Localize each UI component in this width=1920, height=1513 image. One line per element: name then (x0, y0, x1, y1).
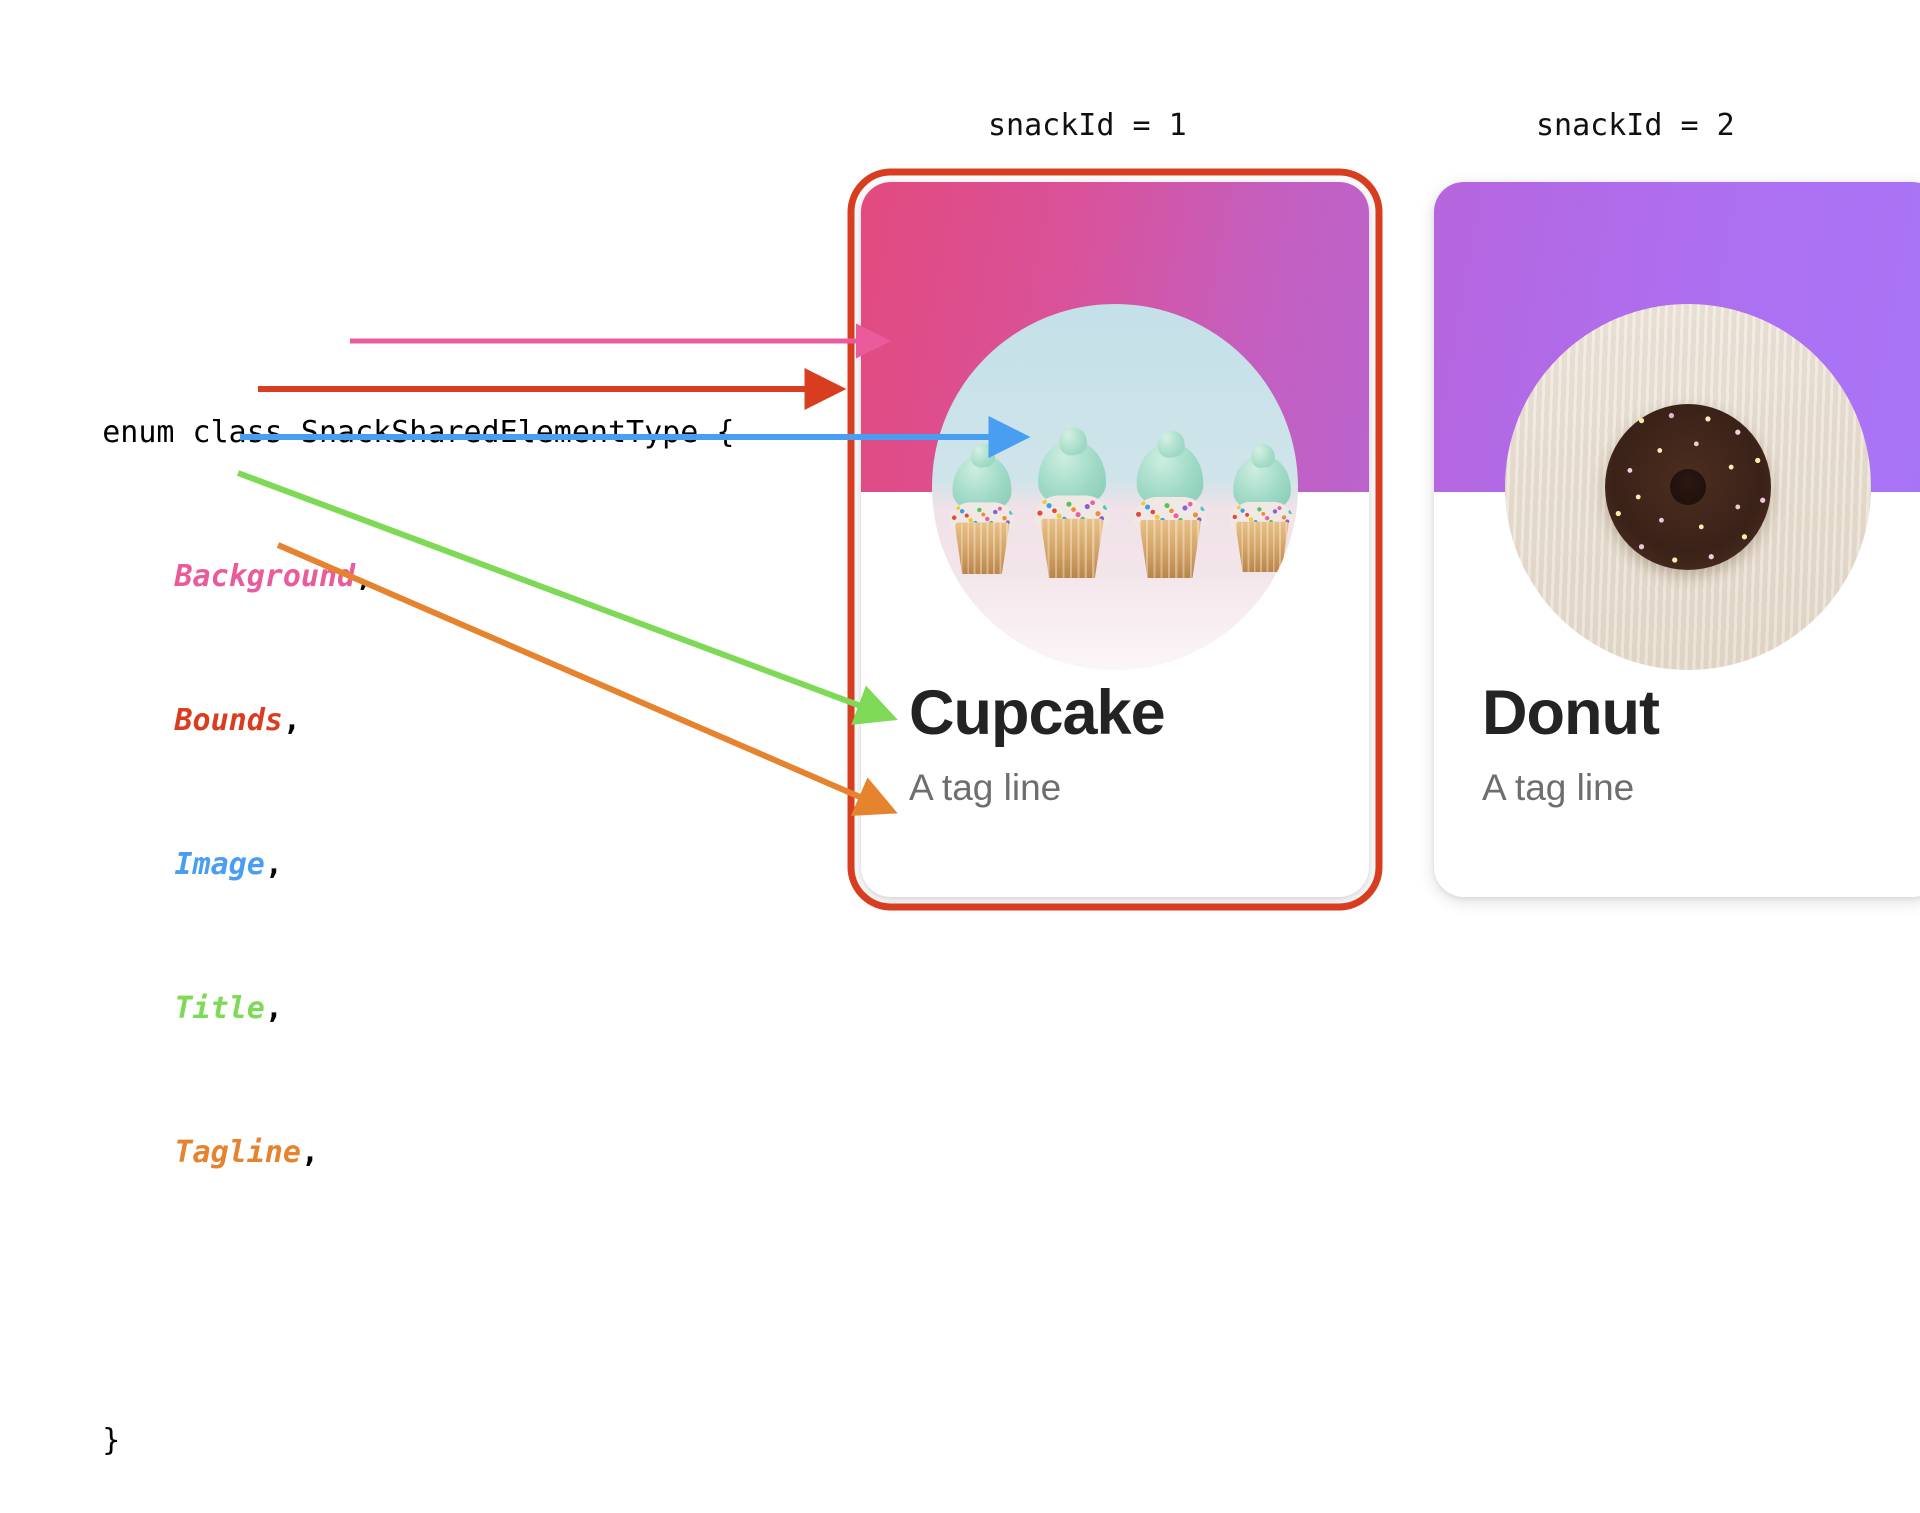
code-line-declaration: enum class SnackSharedElementType { (30, 361, 734, 409)
code-line-bounds: Bounds, (30, 649, 734, 697)
card-image-donut (1505, 304, 1871, 670)
enum-entry-image: Image (175, 847, 265, 882)
card-image-cupcake (932, 304, 1298, 670)
code-line-image: Image, (30, 793, 734, 841)
code-comma: , (355, 559, 373, 594)
enum-entry-title: Title (175, 991, 265, 1026)
code-line-closing-brace: } (30, 1369, 734, 1417)
card-text-block: Donut A tag line (1434, 682, 1920, 806)
code-line-blank (30, 1225, 734, 1273)
code-indent (102, 703, 174, 738)
card-tagline-donut: A tag line (1482, 769, 1894, 806)
code-indent (102, 559, 174, 594)
code-text-declaration: enum class SnackSharedElementType { (102, 415, 734, 450)
cupcake-liner (1040, 519, 1104, 578)
snack-id-label-2: snackId = 2 (1536, 108, 1735, 143)
donut-ring (1605, 404, 1771, 570)
code-block: enum class SnackSharedElementType { Back… (30, 265, 734, 1465)
card-tagline-cupcake: A tag line (909, 769, 1321, 806)
card-title-donut: Donut (1482, 682, 1894, 745)
donut-hole (1670, 469, 1706, 505)
snack-id-label-1: snackId = 1 (988, 108, 1187, 143)
code-comma: , (265, 847, 283, 882)
card-text-block: Cupcake A tag line (861, 682, 1369, 806)
cupcake-liner (1139, 520, 1201, 578)
code-line-background: Background, (30, 505, 734, 553)
photo-shelf (932, 578, 1298, 670)
code-indent (102, 991, 174, 1026)
code-line-title: Title, (30, 937, 734, 985)
enum-entry-tagline: Tagline (175, 1135, 301, 1170)
code-line-tagline: Tagline, (30, 1081, 734, 1129)
cupcake-liner (954, 522, 1009, 574)
snack-card-cupcake[interactable]: Cupcake A tag line (861, 182, 1369, 897)
code-comma: , (301, 1135, 319, 1170)
code-indent (102, 1135, 174, 1170)
cupcake-liner (1235, 522, 1289, 572)
enum-entry-bounds: Bounds (175, 703, 283, 738)
cupcake-photo (932, 304, 1298, 670)
enum-entry-background: Background (175, 559, 356, 594)
code-text-closing-brace: } (102, 1423, 120, 1458)
code-indent (102, 847, 174, 882)
donut-photo (1505, 304, 1871, 670)
card-title-cupcake: Cupcake (909, 682, 1321, 745)
code-comma: , (265, 991, 283, 1026)
snack-card-donut[interactable]: Donut A tag line (1434, 182, 1920, 897)
code-comma: , (283, 703, 301, 738)
